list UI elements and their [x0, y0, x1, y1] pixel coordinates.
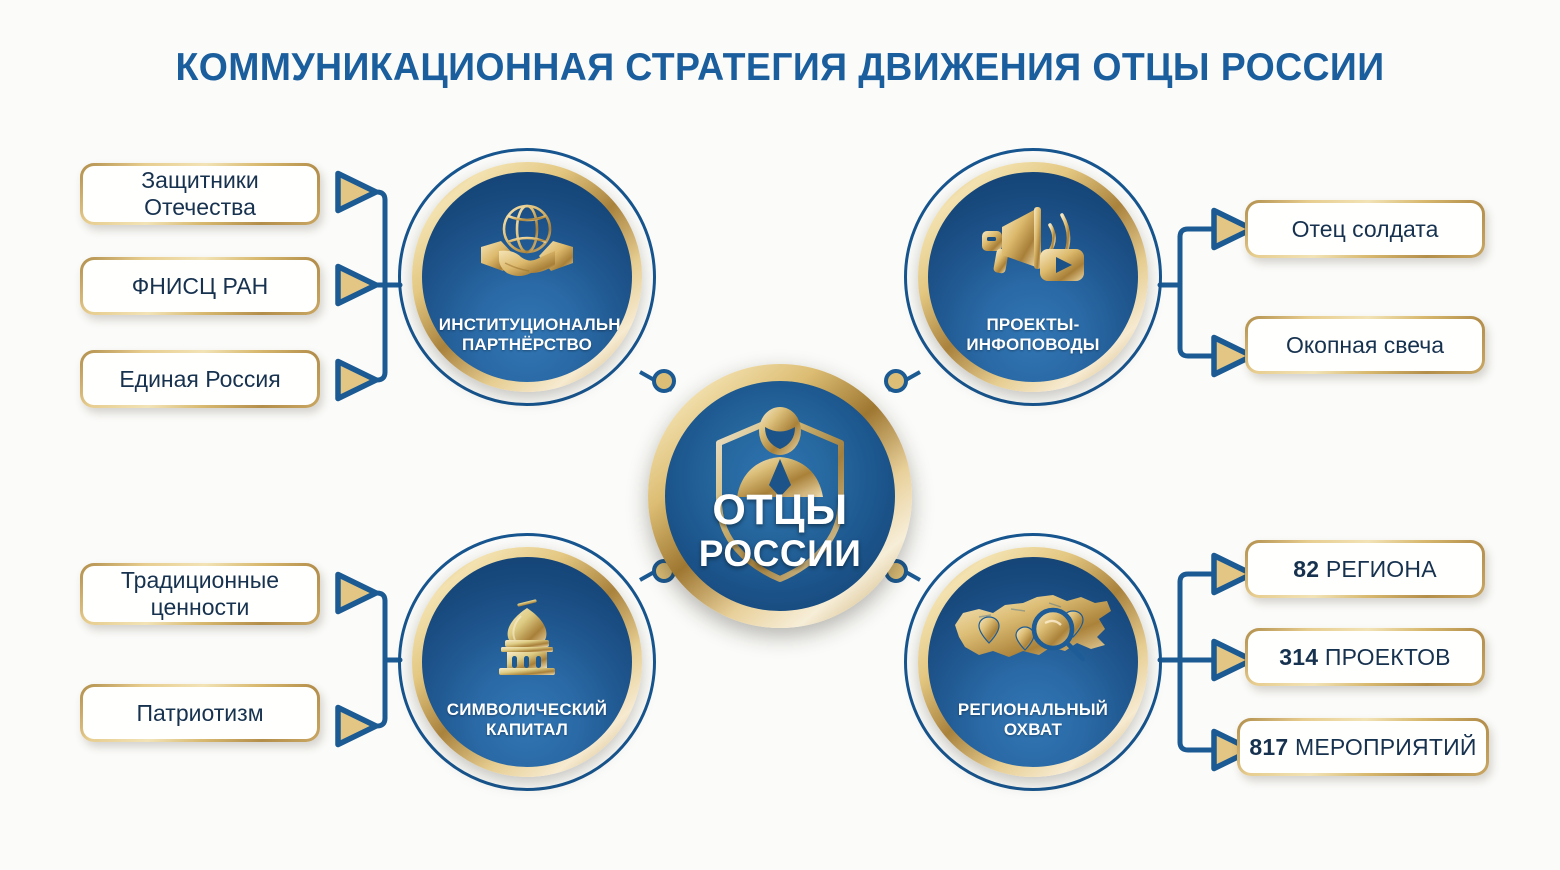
node-blue-disc: ИНСТИТУЦИОНАЛЬНОЕПАРТНЁРСТВО — [422, 172, 632, 382]
label-inner: ФНИСЦ РАН — [83, 260, 317, 312]
connector-bottom-right — [1160, 574, 1218, 750]
label-text: ЗащитникиОтечества — [141, 167, 258, 220]
label-text: 817 МЕРОПРИЯТИЙ — [1249, 734, 1476, 761]
megaphone-play-icon — [978, 201, 1088, 296]
hub-blue-disc: ОТЦЫ РОССИИ — [665, 381, 895, 611]
node-symbolic-capital[interactable]: СИМВОЛИЧЕСКИЙКАПИТАЛ — [398, 533, 656, 791]
hub-line-1: ОТЦЫ — [665, 489, 895, 532]
connector-bottom-left — [342, 593, 400, 726]
stat-events[interactable]: 817 МЕРОПРИЯТИЙ — [1237, 718, 1489, 776]
stat-number: 82 — [1293, 556, 1319, 582]
label-text: 314 ПРОЕКТОВ — [1279, 644, 1450, 671]
connector-top-right — [1160, 229, 1218, 356]
stat-number: 817 — [1249, 734, 1288, 760]
label-text: Традиционныеценности — [121, 567, 279, 620]
node-institutional-partnership[interactable]: ИНСТИТУЦИОНАЛЬНОЕПАРТНЁРСТВО — [398, 148, 656, 406]
label-fnisc-ran[interactable]: ФНИСЦ РАН — [80, 257, 320, 315]
node-caption: ПРОЕКТЫ-ИНФОПОВОДЫ — [945, 315, 1121, 354]
russia-map-magnifier-icon — [949, 589, 1117, 678]
label-inner: 817 МЕРОПРИЯТИЙ — [1240, 721, 1486, 773]
label-text: Единая Россия — [119, 366, 280, 393]
label-inner: ЗащитникиОтечества — [83, 166, 317, 222]
label-tradicionnye-cennosti[interactable]: Традиционныеценности — [80, 563, 320, 625]
label-inner: 82 РЕГИОНА — [1248, 543, 1482, 595]
label-text: Патриотизм — [136, 700, 263, 727]
stat-unit: РЕГИОНА — [1326, 556, 1437, 582]
stat-unit: МЕРОПРИЯТИЙ — [1295, 734, 1477, 760]
node-caption: СИМВОЛИЧЕСКИЙКАПИТАЛ — [439, 700, 615, 739]
globe-handshake-icon — [475, 201, 579, 292]
stat-projects[interactable]: 314 ПРОЕКТОВ — [1245, 628, 1485, 686]
label-text: ФНИСЦ РАН — [132, 273, 268, 300]
label-inner: 314 ПРОЕКТОВ — [1248, 631, 1482, 683]
stat-regions[interactable]: 82 РЕГИОНА — [1245, 540, 1485, 598]
label-inner: Единая Россия — [83, 353, 317, 405]
node-caption: РЕГИОНАЛЬНЫЙОХВАТ — [945, 700, 1121, 739]
hub-title: ОТЦЫ РОССИИ — [665, 489, 895, 572]
hub-otcy-rossii[interactable]: ОТЦЫ РОССИИ — [648, 364, 912, 628]
stat-unit: ПРОЕКТОВ — [1325, 644, 1451, 670]
label-inner: Патриотизм — [83, 687, 317, 739]
label-inner: Окопная свеча — [1248, 319, 1482, 371]
label-text: Окопная свеча — [1286, 332, 1444, 359]
label-edinaya-rossiya[interactable]: Единая Россия — [80, 350, 320, 408]
node-caption: ИНСТИТУЦИОНАЛЬНОЕПАРТНЁРСТВО — [439, 315, 615, 354]
label-otec-soldata[interactable]: Отец солдата — [1245, 200, 1485, 258]
infographic-canvas: КОММУНИКАЦИОННАЯ СТРАТЕГИЯ ДВИЖЕНИЯ ОТЦЫ… — [0, 0, 1560, 870]
node-blue-disc: РЕГИОНАЛЬНЫЙОХВАТ — [928, 557, 1138, 767]
node-regional-coverage[interactable]: РЕГИОНАЛЬНЫЙОХВАТ — [904, 533, 1162, 791]
label-inner: Отец солдата — [1248, 203, 1482, 255]
node-projects-infoposts[interactable]: ПРОЕКТЫ-ИНФОПОВОДЫ — [904, 148, 1162, 406]
label-zaschitniki-otechestva[interactable]: ЗащитникиОтечества — [80, 163, 320, 225]
hub-line-2: РОССИИ — [665, 535, 895, 572]
node-blue-disc: ПРОЕКТЫ-ИНФОПОВОДЫ — [928, 172, 1138, 382]
orthodox-church-dome-icon — [479, 580, 575, 685]
label-text: Отец солдата — [1292, 216, 1439, 243]
label-text: 82 РЕГИОНА — [1293, 556, 1437, 583]
label-okopnaya-svecha[interactable]: Окопная свеча — [1245, 316, 1485, 374]
label-patriotizm[interactable]: Патриотизм — [80, 684, 320, 742]
label-inner: Традиционныеценности — [83, 566, 317, 622]
connector-top-left — [342, 192, 400, 380]
node-blue-disc: СИМВОЛИЧЕСКИЙКАПИТАЛ — [422, 557, 632, 767]
stat-number: 314 — [1279, 644, 1318, 670]
